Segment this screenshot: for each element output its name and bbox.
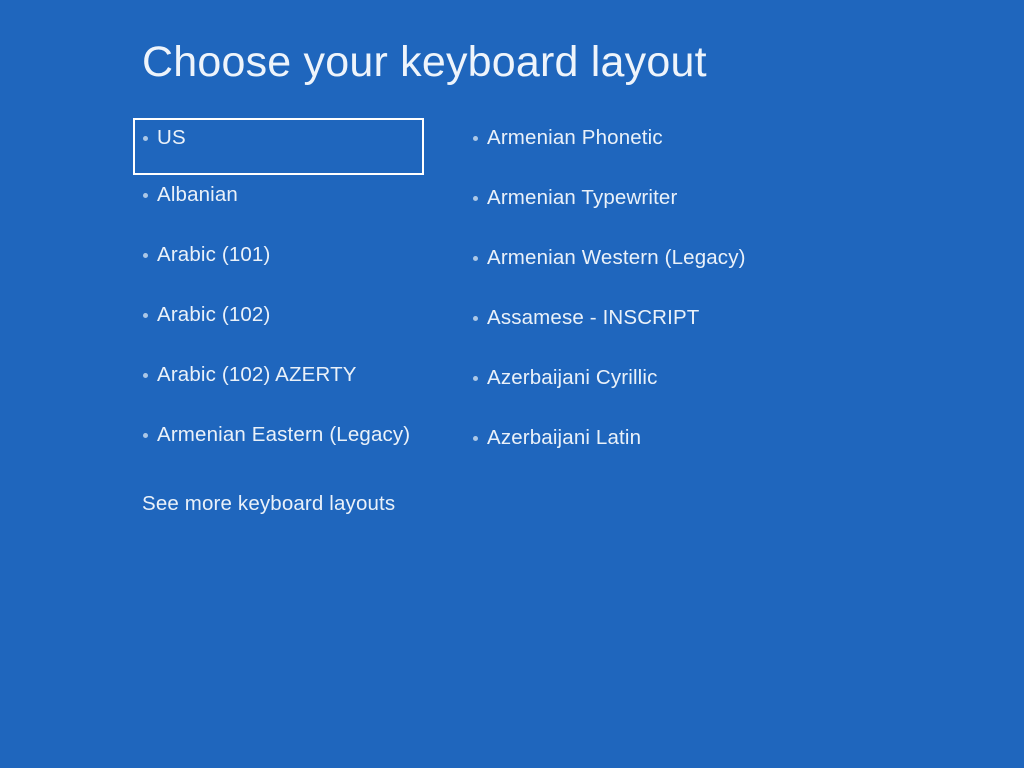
keyboard-layout-item[interactable]: Azerbaijani Latin (463, 418, 883, 478)
keyboard-layout-item-label: Arabic (101) (157, 243, 270, 267)
bullet-dot-icon (473, 136, 478, 141)
see-more-keyboard-layouts-link[interactable]: See more keyboard layouts (142, 492, 395, 516)
keyboard-layout-item[interactable]: US (133, 118, 424, 175)
bullet-dot-icon (143, 193, 148, 198)
page-title: Choose your keyboard layout (142, 38, 707, 86)
keyboard-layout-item-label: Azerbaijani Latin (487, 426, 641, 450)
keyboard-layout-item-label: Armenian Eastern (Legacy) (157, 423, 410, 447)
keyboard-layout-item[interactable]: Arabic (102) AZERTY (133, 355, 433, 415)
bullet-dot-icon (473, 376, 478, 381)
keyboard-layout-item-label: Armenian Phonetic (487, 126, 663, 150)
keyboard-layout-item-label: Armenian Western (Legacy) (487, 246, 746, 270)
keyboard-layout-item-label: Assamese - INSCRIPT (487, 306, 699, 330)
keyboard-layout-item-label: Arabic (102) AZERTY (157, 363, 357, 387)
keyboard-layout-item-label: Albanian (157, 183, 238, 207)
bullet-dot-icon (143, 373, 148, 378)
keyboard-layout-item[interactable]: Arabic (101) (133, 235, 433, 295)
keyboard-layout-item[interactable]: Albanian (133, 175, 433, 235)
keyboard-layout-item[interactable]: Armenian Phonetic (463, 118, 883, 178)
keyboard-layout-item-label: Arabic (102) (157, 303, 270, 327)
bullet-dot-icon (473, 316, 478, 321)
bullet-dot-icon (143, 313, 148, 318)
keyboard-layout-item[interactable]: Arabic (102) (133, 295, 433, 355)
keyboard-layout-column-right: Armenian PhoneticArmenian TypewriterArme… (463, 118, 883, 478)
bullet-dot-icon (143, 433, 148, 438)
keyboard-layout-item[interactable]: Armenian Eastern (Legacy) (133, 415, 433, 475)
bullet-dot-icon (143, 253, 148, 258)
keyboard-layout-item[interactable]: Armenian Western (Legacy) (463, 238, 883, 298)
keyboard-layout-item[interactable]: Assamese - INSCRIPT (463, 298, 883, 358)
keyboard-layout-column-left: USAlbanianArabic (101)Arabic (102)Arabic… (133, 118, 433, 475)
keyboard-layout-item[interactable]: Armenian Typewriter (463, 178, 883, 238)
keyboard-layout-item-label: Armenian Typewriter (487, 186, 677, 210)
bullet-dot-icon (143, 136, 148, 141)
keyboard-layout-item-label: Azerbaijani Cyrillic (487, 366, 657, 390)
keyboard-layout-screen: Choose your keyboard layout USAlbanianAr… (0, 0, 1024, 768)
bullet-dot-icon (473, 196, 478, 201)
bullet-dot-icon (473, 436, 478, 441)
keyboard-layout-item[interactable]: Azerbaijani Cyrillic (463, 358, 883, 418)
bullet-dot-icon (473, 256, 478, 261)
keyboard-layout-item-label: US (157, 126, 186, 150)
